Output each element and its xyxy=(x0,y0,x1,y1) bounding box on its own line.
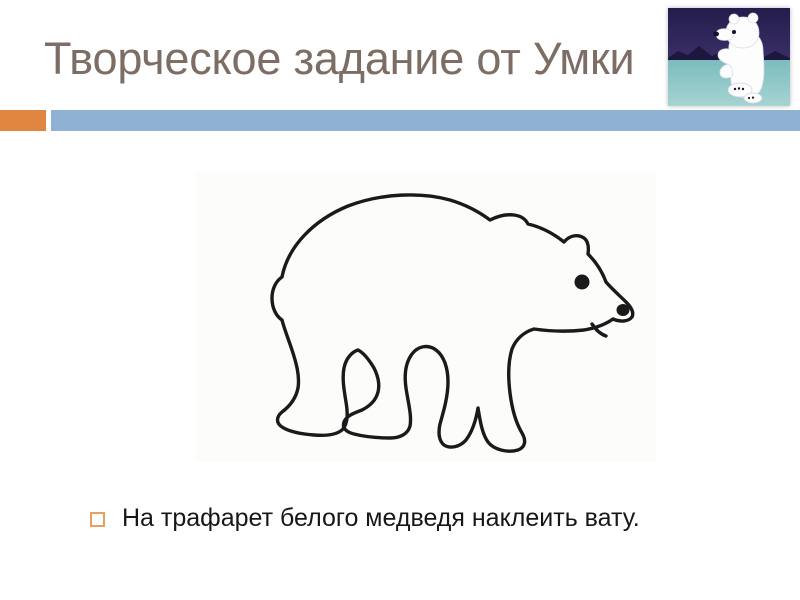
list-item: На трафарет белого медведя наклеить вату… xyxy=(90,498,730,538)
bear-nose xyxy=(713,32,719,37)
paw-pad-2 xyxy=(738,87,740,89)
polar-bear-outline-stencil xyxy=(196,172,656,462)
bear-eye xyxy=(732,30,736,34)
paw-pad-1 xyxy=(734,88,736,90)
bear-nose-dot xyxy=(617,304,630,316)
bear-body-contour xyxy=(272,195,633,451)
title-divider xyxy=(0,110,800,131)
blue-rule-bar xyxy=(51,110,800,131)
caption-text: На трафарет белого медведя наклеить вату… xyxy=(122,501,640,535)
foot-pad-1 xyxy=(748,97,750,99)
paw-pad-3 xyxy=(742,88,744,90)
bear-eye-dot xyxy=(575,275,590,290)
slide-canvas: Творческое задание от Умки xyxy=(0,0,800,600)
foot-pad-2 xyxy=(752,97,754,99)
orange-accent-block xyxy=(0,110,46,131)
bear-ear-right xyxy=(748,13,758,23)
polar-bear-cub-photo xyxy=(668,8,790,106)
bear-ear-left xyxy=(729,14,739,24)
page-title: Творческое задание от Умки xyxy=(44,26,664,92)
square-bullet-icon xyxy=(90,512,105,527)
